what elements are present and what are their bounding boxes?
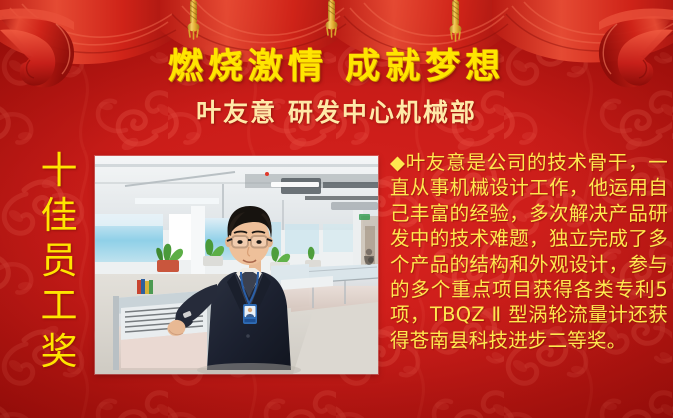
award-char-1: 十 (36, 148, 82, 193)
honor-poster: 燃烧激情 成就梦想 叶友意 研发中心机械部 十 佳 员 工 奖 (0, 0, 673, 418)
award-char-4: 工 (36, 283, 82, 328)
award-char-3: 员 (36, 238, 82, 283)
employee-photo (95, 156, 378, 374)
award-char-5: 奖 (36, 329, 82, 374)
award-char-2: 佳 (36, 193, 82, 238)
subtitle-name-department: 叶友意 研发中心机械部 (0, 93, 673, 129)
employee-bio-text: ◆叶友意是公司的技术骨干，一直从事机械设计工作，他运用自己丰富的经验，多次解决产… (390, 150, 668, 353)
page-title: 燃烧激情 成就梦想 (0, 38, 673, 89)
award-label-vertical: 十 佳 员 工 奖 (36, 148, 82, 374)
